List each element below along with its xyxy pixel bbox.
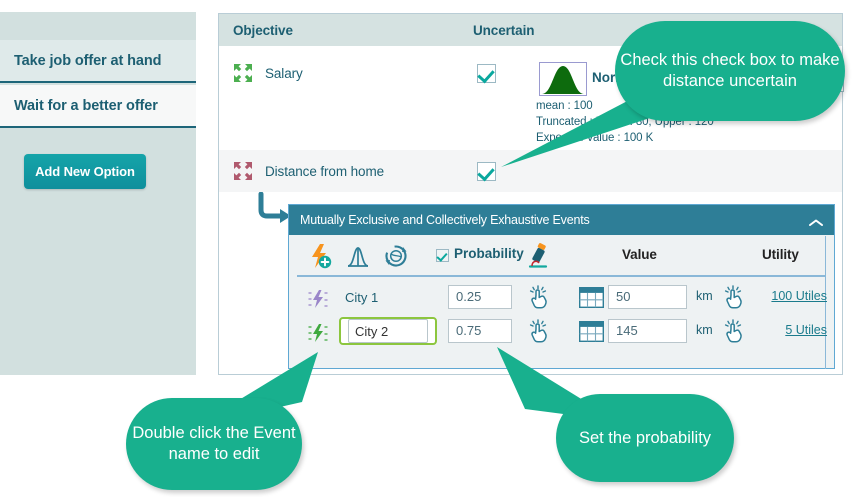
refresh-globe-icon[interactable]	[383, 243, 409, 269]
lightning-bolt-icon	[307, 288, 329, 310]
value-unit: km	[696, 323, 713, 337]
resize-arrows-icon	[233, 63, 253, 83]
event-row: City 2 0.75	[297, 315, 826, 349]
lightning-bolt-icon	[307, 322, 329, 344]
options-sidebar: Take job offer at hand Wait for a better…	[0, 12, 196, 375]
sidebar-option-label: Take job offer at hand	[14, 53, 161, 69]
probability-column-checkbox[interactable]	[436, 249, 449, 262]
table-grid-icon[interactable]	[579, 321, 604, 342]
event-name-input[interactable]: City 2	[339, 317, 437, 345]
value-input[interactable]: 50	[608, 285, 687, 309]
microscope-icon[interactable]	[525, 242, 551, 270]
column-header-value: Value	[622, 247, 657, 262]
add-new-option-button[interactable]: Add New Option	[24, 154, 146, 189]
callout-set-probability: Set the probability	[556, 394, 734, 482]
callout-double-click: Double click the Event name to edit	[126, 398, 302, 490]
sidebar-option-wait-offer[interactable]: Wait for a better offer	[0, 85, 196, 128]
event-name[interactable]: City 1	[345, 290, 378, 305]
click-hand-icon[interactable]	[529, 285, 549, 310]
column-header-utility: Utility	[762, 247, 799, 262]
app-root: Take job offer at hand Wait for a better…	[0, 0, 853, 497]
sidebar-option-label: Wait for a better offer	[14, 98, 158, 114]
distribution-curve-icon[interactable]	[345, 243, 371, 269]
sidebar-option-take-job[interactable]: Take job offer at hand	[0, 40, 196, 83]
click-hand-icon[interactable]	[529, 319, 549, 344]
mece-panel-title: Mutually Exclusive and Collectively Exha…	[300, 213, 590, 227]
callout-text: Double click the Event name to edit	[126, 423, 302, 465]
callout-text: Set the probability	[579, 428, 711, 449]
uncertain-checkbox-distance[interactable]	[477, 162, 496, 181]
probability-input[interactable]: 0.75	[448, 319, 512, 343]
utility-link[interactable]: 5 Utiles	[737, 323, 827, 337]
objective-name: Distance from home	[265, 164, 384, 179]
chevron-up-icon[interactable]	[808, 215, 824, 225]
event-row: City 1 0.25	[297, 281, 826, 315]
column-header-probability: Probability	[454, 246, 524, 261]
value-unit: km	[696, 289, 713, 303]
event-name-input-text: City 2	[348, 319, 428, 343]
value-input[interactable]: 145	[608, 319, 687, 343]
add-lightning-icon[interactable]	[307, 243, 333, 269]
mece-toolbar: Probability Value Utility	[297, 235, 826, 277]
mece-panel-header[interactable]: Mutually Exclusive and Collectively Exha…	[289, 205, 834, 235]
probability-input[interactable]: 0.25	[448, 285, 512, 309]
uncertain-checkbox-salary[interactable]	[477, 64, 496, 83]
resize-arrows-icon	[233, 161, 253, 181]
column-header-uncertain: Uncertain	[473, 23, 534, 38]
utility-link[interactable]: 100 Utiles	[737, 289, 827, 303]
objective-name: Salary	[265, 66, 303, 81]
callout-text: Check this check box to make distance un…	[615, 50, 845, 92]
column-header-objective: Objective	[233, 23, 473, 38]
callout-check-uncertain: Check this check box to make distance un…	[615, 21, 845, 121]
table-grid-icon[interactable]	[579, 287, 604, 308]
